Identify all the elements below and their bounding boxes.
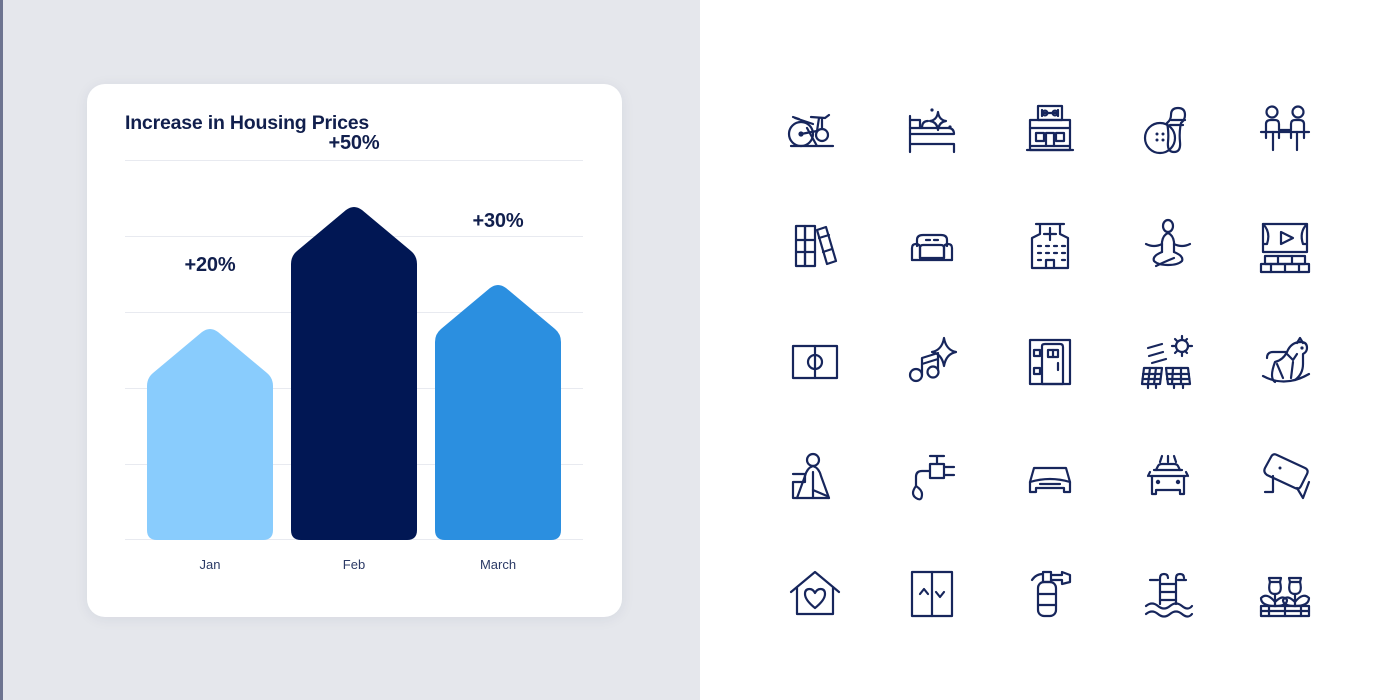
screenshot-root: Increase in Housing Prices +20% — [0, 0, 1400, 700]
bed-cleaning-icon[interactable] — [874, 72, 992, 188]
right-panel — [700, 0, 1400, 700]
yoga-meditation-icon[interactable] — [1109, 188, 1227, 304]
bowling-icon[interactable] — [1109, 72, 1227, 188]
bar-house-svg — [291, 190, 417, 540]
exercise-bike-icon[interactable] — [756, 72, 874, 188]
x-axis-labels: Jan Feb March — [125, 546, 583, 576]
elevator-icon[interactable] — [874, 536, 992, 652]
swimming-pool-icon[interactable] — [1109, 536, 1227, 652]
car-parking-icon[interactable] — [991, 420, 1109, 536]
x-axis-tick-label: March — [435, 557, 561, 572]
solar-panels-icon[interactable] — [1109, 304, 1227, 420]
x-axis-tick-label: Feb — [291, 557, 417, 572]
gym-building-icon[interactable] — [991, 72, 1109, 188]
garden-flowers-icon[interactable] — [1226, 536, 1344, 652]
bar-value-label: +30% — [435, 210, 561, 233]
coworking-table-icon[interactable] — [1226, 72, 1344, 188]
music-notes-icon[interactable] — [874, 304, 992, 420]
bars-layer: +20% +50% — [125, 160, 583, 540]
house-heart-icon[interactable] — [756, 536, 874, 652]
bar-house-svg — [147, 312, 273, 540]
left-panel: Increase in Housing Prices +20% — [0, 0, 700, 700]
fire-extinguisher-icon[interactable] — [991, 536, 1109, 652]
housing-prices-chart-card: Increase in Housing Prices +20% — [87, 84, 622, 617]
bar-house-svg — [435, 268, 561, 540]
books-library-icon[interactable] — [756, 188, 874, 304]
bar-value-label: +50% — [291, 132, 417, 155]
security-camera-icon[interactable] — [1226, 420, 1344, 536]
door-entrance-icon[interactable] — [991, 304, 1109, 420]
bar-house-shape[interactable] — [435, 268, 561, 540]
bar-group: +30% — [435, 268, 561, 540]
bar-group: +20% — [147, 312, 273, 540]
sports-field-icon[interactable] — [756, 304, 874, 420]
amenities-icon-grid — [756, 72, 1344, 652]
concierge-person-icon[interactable] — [756, 420, 874, 536]
cinema-screen-icon[interactable] — [1226, 188, 1344, 304]
water-tap-icon[interactable] — [874, 420, 992, 536]
bar-house-shape[interactable] — [291, 190, 417, 540]
x-axis-tick-label: Jan — [147, 557, 273, 572]
bar-value-label: +20% — [147, 254, 273, 277]
hospital-icon[interactable] — [991, 188, 1109, 304]
sofa-lounge-icon[interactable] — [874, 188, 992, 304]
bar-house-shape[interactable] — [147, 312, 273, 540]
chart-plot-area: +20% +50% — [125, 160, 583, 540]
bar-group: +50% — [291, 190, 417, 540]
car-wash-icon[interactable] — [1109, 420, 1227, 536]
rocking-horse-icon[interactable] — [1226, 304, 1344, 420]
